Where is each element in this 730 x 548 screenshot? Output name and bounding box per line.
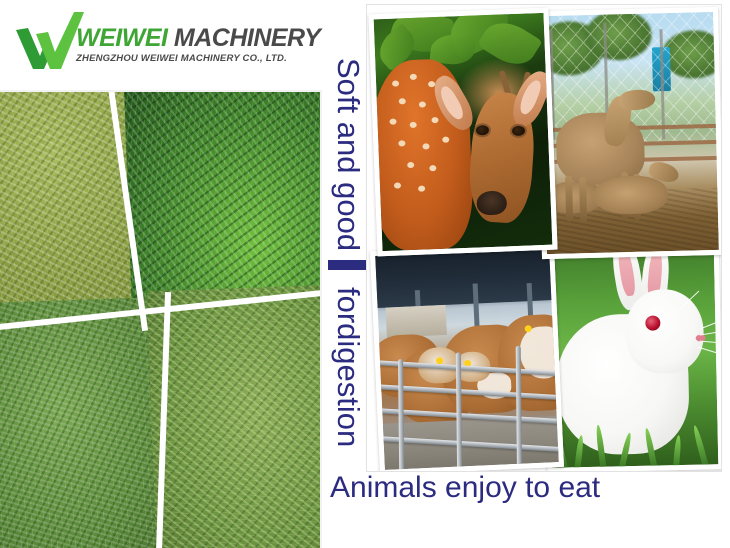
logo-text: WEIWEI MACHINERY ZHENGZHOU WEIWEI MACHIN… (76, 26, 316, 64)
animal-photo-panel (366, 4, 722, 472)
collage-panel-fresh-clippings (124, 90, 322, 320)
logo-brand-machinery: MACHINERY (167, 24, 320, 52)
grass-photo-collage (0, 90, 322, 548)
logo-company-line: ZHENGZHOU WEIWEI MACHINERY CO., LTD. (76, 53, 316, 64)
logo-brand-line: WEIWEI MACHINERY (76, 26, 316, 51)
logo-brand-weiwei: WEIWEI (76, 24, 167, 52)
vertical-caption-line-1: Soft and good (333, 58, 364, 251)
weiwei-checkmark-w-logo-icon (14, 12, 84, 70)
photo-white-rabbit (543, 235, 722, 472)
photo-deer-enclosure (536, 7, 722, 259)
vertical-caption-line-2: fordigestion (333, 287, 364, 447)
photo-cattle-barn (370, 243, 564, 472)
company-logo: WEIWEI MACHINERY ZHENGZHOU WEIWEI MACHIN… (14, 10, 314, 72)
bottom-caption: Animals enjoy to eat (330, 473, 600, 503)
photo-deer-closeup (368, 8, 557, 257)
collage-panel-mixed-forage (147, 285, 322, 548)
